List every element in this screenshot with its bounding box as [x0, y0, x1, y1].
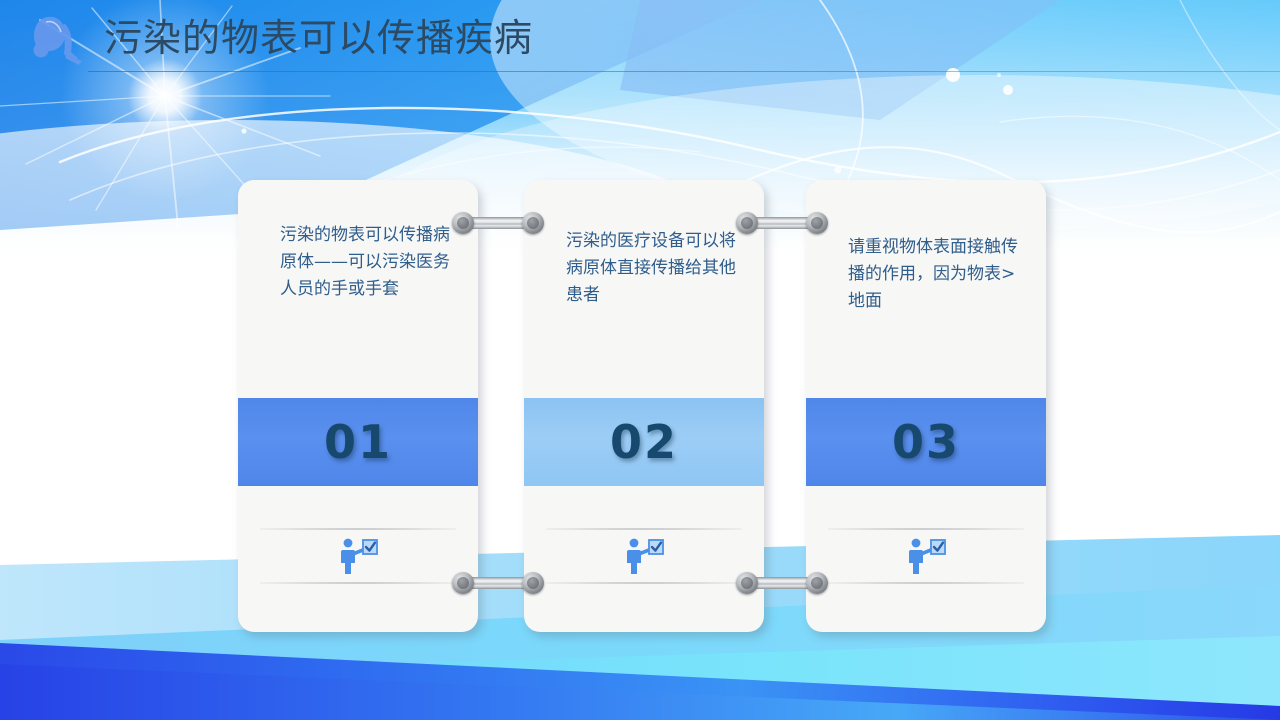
- presentation-slide: 污染的物表可以传播疾病 污染的物表可以传播病原体——可以污染医务人员的手或手套 …: [0, 0, 1280, 720]
- card-text-01: 污染的物表可以传播病原体——可以污染医务人员的手或手套: [238, 180, 478, 398]
- person-presenting-checkbox-icon: [336, 536, 380, 576]
- footer-divider-top: [828, 528, 1024, 530]
- info-card-02[interactable]: 污染的医疗设备可以将病原体直接传播给其他患者 02: [524, 180, 764, 632]
- card-footer-02: [524, 486, 764, 632]
- info-card-03[interactable]: 请重视物体表面接触传播的作用，因为物表>地面 03: [806, 180, 1046, 632]
- title-underline: [88, 71, 1280, 72]
- page-title: 污染的物表可以传播疾病: [104, 16, 533, 60]
- card-number-band-01: 01: [238, 398, 478, 486]
- footer-divider-bottom: [260, 582, 456, 584]
- info-card-01[interactable]: 污染的物表可以传播病原体——可以污染医务人员的手或手套 01: [238, 180, 478, 632]
- card-text-02: 污染的医疗设备可以将病原体直接传播给其他患者: [524, 180, 764, 398]
- person-presenting-checkbox-icon: [904, 536, 948, 576]
- connector-knob-right: [522, 212, 544, 234]
- card-footer-03: [806, 486, 1046, 632]
- footer-divider-bottom: [546, 582, 742, 584]
- card-number-02: 02: [610, 415, 678, 469]
- connector-knob-right: [806, 572, 828, 594]
- card-number-03: 03: [892, 415, 960, 469]
- connector-bottom-left: [452, 572, 544, 594]
- footer-divider-bottom: [828, 582, 1024, 584]
- connector-knob-left: [736, 572, 758, 594]
- person-presenting-checkbox-icon: [622, 536, 666, 576]
- card-text-03: 请重视物体表面接触传播的作用，因为物表>地面: [806, 180, 1046, 398]
- connector-top-left: [452, 212, 544, 234]
- footer-divider-top: [260, 528, 456, 530]
- title-bar: 污染的物表可以传播疾病: [0, 0, 1280, 72]
- card-number-band-03: 03: [806, 398, 1046, 486]
- connector-knob-left: [736, 212, 758, 234]
- connector-knob-left: [452, 572, 474, 594]
- vacuum-cleaner-icon: [26, 8, 88, 70]
- connector-top-right: [736, 212, 828, 234]
- footer-divider-top: [546, 528, 742, 530]
- card-number-band-02: 02: [524, 398, 764, 486]
- connector-knob-left: [452, 212, 474, 234]
- connector-knob-right: [806, 212, 828, 234]
- card-footer-01: [238, 486, 478, 632]
- connector-bottom-right: [736, 572, 828, 594]
- connector-knob-right: [522, 572, 544, 594]
- card-number-01: 01: [324, 415, 392, 469]
